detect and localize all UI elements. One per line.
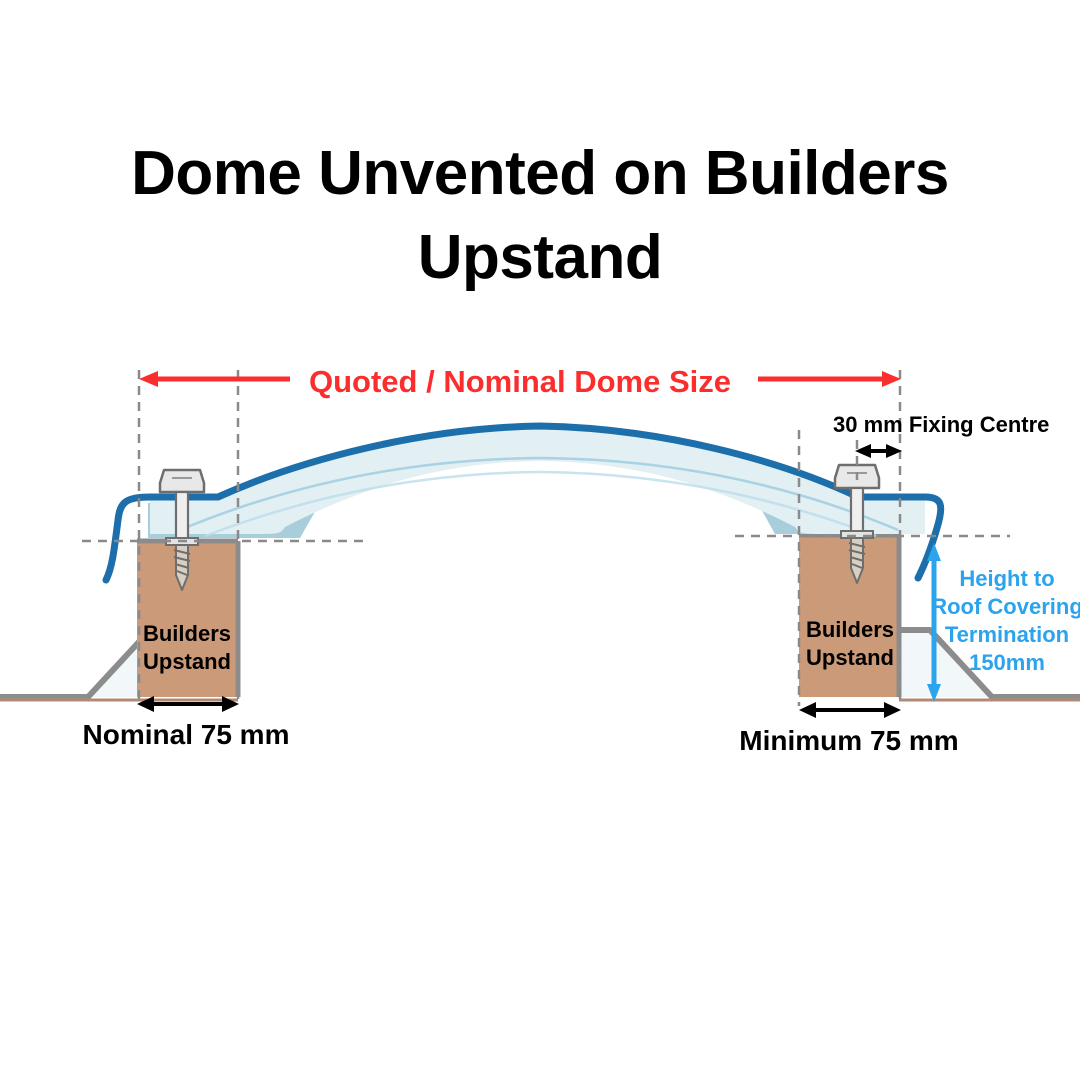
fixing-centre-dimension: 30 mm Fixing Centre: [833, 412, 1049, 458]
height-label-line2: Roof Covering: [931, 594, 1080, 619]
dome-size-dimension: Quoted / Nominal Dome Size: [139, 364, 901, 399]
left-upstand-width-dimension: Nominal 75 mm: [83, 696, 290, 750]
height-label-line1: Height to: [959, 566, 1054, 591]
height-label-line4: 150mm: [969, 650, 1045, 675]
right-upstand-label-line2: Upstand: [806, 645, 894, 670]
fixing-centre-label: 30 mm Fixing Centre: [833, 412, 1049, 437]
diagram-page: Dome Unvented on Builders Upstand Builde…: [0, 0, 1080, 1080]
right-upstand-label-line1: Builders: [806, 617, 894, 642]
right-upstand-width-label: Minimum 75 mm: [739, 725, 958, 756]
left-upstand-label-line2: Upstand: [143, 649, 231, 674]
dome-size-label: Quoted / Nominal Dome Size: [309, 364, 731, 399]
right-builders-upstand: Builders Upstand: [799, 535, 900, 697]
technical-drawing: Builders Upstand Builders Upstand: [0, 0, 1080, 1080]
left-upstand-width-label: Nominal 75 mm: [83, 719, 290, 750]
right-upstand-width-dimension: Minimum 75 mm: [739, 702, 958, 756]
height-label-line3: Termination: [945, 622, 1069, 647]
left-upstand-label-line1: Builders: [143, 621, 231, 646]
